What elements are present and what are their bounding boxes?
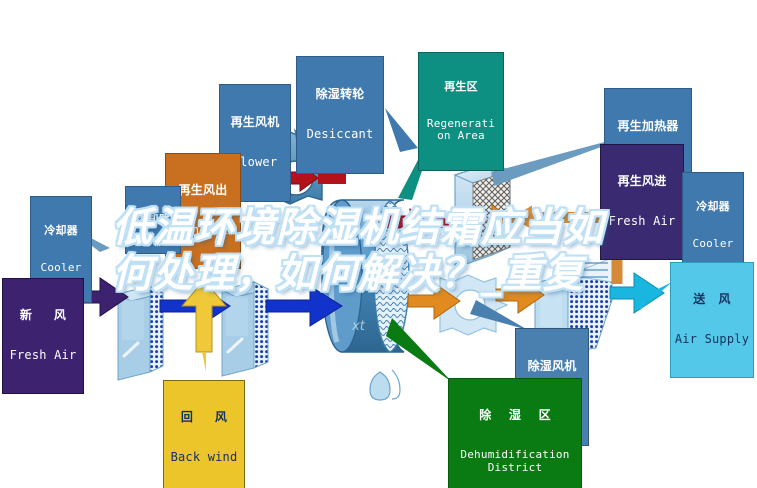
label-cooler-left-en: Cooler — [33, 262, 89, 274]
label-cooler-left-cn: 冷却器 — [33, 225, 89, 237]
label-back-wind: 回 风 Back wind — [163, 380, 245, 488]
label-back-wind-cn: 回 风 — [166, 411, 242, 424]
label-regen-heater-cn: 再生加热器 — [607, 120, 689, 133]
label-regeneration-area: 再生区 Regenerati on Area — [418, 52, 504, 171]
label-regen-fresh-air-cn: 再生风进 — [603, 175, 681, 188]
label-air-supply: 送 风 Air Supply — [670, 262, 754, 378]
label-dehumidification-district: 除 湿 区 Dehumidification District — [448, 378, 582, 488]
label-cooler-left-2-cn: 冷却器 — [128, 214, 178, 226]
label-regen-fresh-air-en: Fresh Air — [603, 215, 681, 228]
label-cooler-right-cn: 冷却器 — [685, 201, 741, 213]
label-regeneration-area-cn: 再生区 — [421, 81, 501, 93]
label-cooler-left-2: 冷却器 — [125, 186, 181, 254]
label-dehumidification-district-en: Dehumidification District — [451, 449, 579, 474]
label-cooler-right-en: Cooler — [685, 238, 741, 250]
label-regen-fresh-air: 再生风进 Fresh Air — [600, 144, 684, 260]
label-regen-blower-cn: 再生风机 — [222, 116, 288, 129]
label-fresh-air-cn: 新 风 — [5, 309, 81, 322]
label-fresh-air-en: Fresh Air — [5, 349, 81, 362]
label-desiccant-cn: 除湿转轮 — [299, 88, 381, 101]
label-regeneration-area-en: Regenerati on Area — [421, 118, 501, 143]
label-dehumidification-district-cn: 除 湿 区 — [451, 409, 579, 422]
label-dehum-blower-cn: 除湿风机 — [518, 360, 586, 373]
label-desiccant-en: Desiccant — [299, 128, 381, 141]
label-desiccant: 除湿转轮 Desiccant — [296, 56, 384, 174]
label-air-supply-en: Air Supply — [673, 333, 751, 346]
label-air-supply-cn: 送 风 — [673, 293, 751, 306]
diagram-canvas: xt — [0, 0, 757, 488]
label-back-wind-en: Back wind — [166, 451, 242, 464]
label-fresh-air: 新 风 Fresh Air — [2, 278, 84, 394]
